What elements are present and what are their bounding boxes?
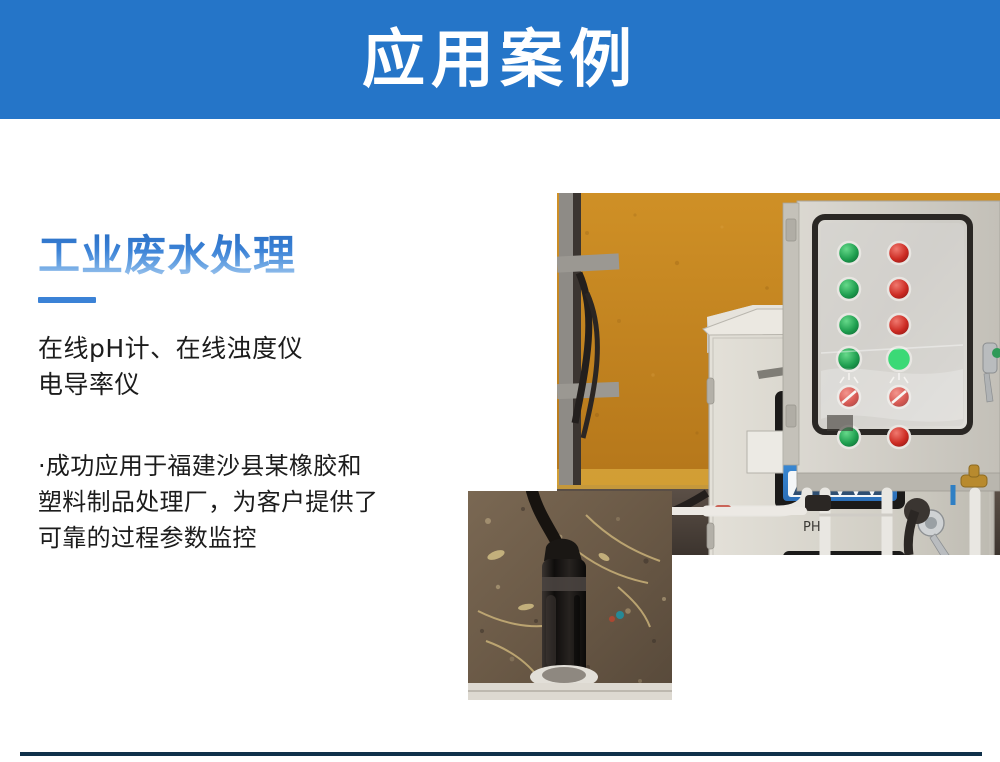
page-header-banner: 应用案例 <box>0 0 1000 119</box>
instrument-line-1: 在线pH计、在线浊度仪 <box>38 331 448 367</box>
case-text-column: 工业废水处理 在线pH计、在线浊度仪 电导率仪 ·成功应用于福建沙县某橡胶和 塑… <box>38 232 448 556</box>
instrument-list: 在线pH计、在线浊度仪 电导率仪 <box>38 331 448 402</box>
description-line-2: 塑料制品处理厂，为客户提供了 <box>38 484 448 520</box>
submersible-probe-photo <box>468 491 672 700</box>
description-line-3: 可靠的过程参数监控 <box>38 520 448 556</box>
instrument-line-2: 电导率仪 <box>38 367 448 403</box>
bottom-divider-rule <box>20 752 982 756</box>
description-line-1: ·成功应用于福建沙县某橡胶和 <box>38 448 448 484</box>
heading-underline-rule <box>38 297 96 303</box>
case-heading: 工业废水处理 <box>38 232 448 279</box>
page-title: 应用案例 <box>362 28 638 91</box>
probe-photo-illustration <box>468 491 672 700</box>
ph-meter-label: PH <box>803 520 821 535</box>
case-description: ·成功应用于福建沙县某橡胶和 塑料制品处理厂，为客户提供了 可靠的过程参数监控 <box>38 448 448 556</box>
right-control-cabinet <box>782 201 1000 491</box>
